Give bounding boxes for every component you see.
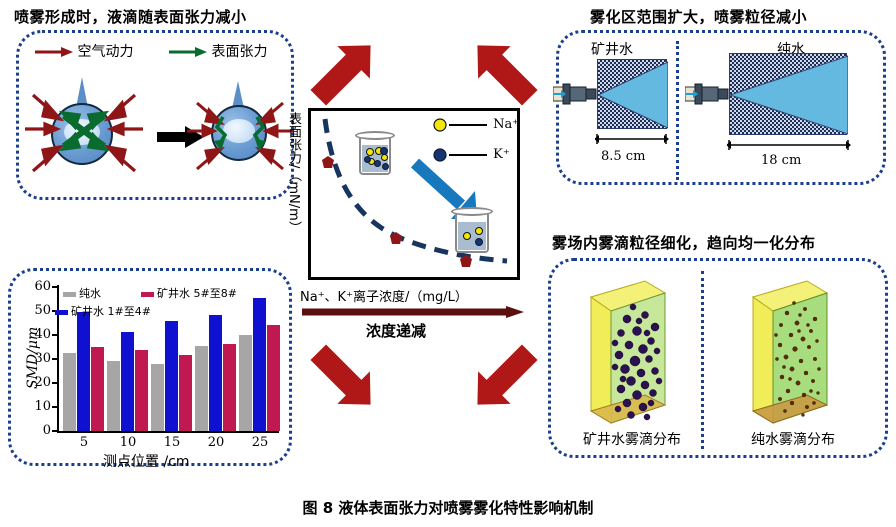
tick-mark [52,358,58,360]
chart-x-axis-label: 测点位置 /cm [103,451,190,471]
distribution-label-pure-water: 纯水雾滴分布 [751,429,835,449]
legend-label-air-force: 空气动力 [77,44,133,60]
ion-k [380,147,388,155]
connector-arrow-upper-right [462,36,548,110]
bar-mine58-25 [267,325,280,431]
droplet-force-arrows-high [19,75,149,185]
chart-legend-pure-water: 纯水 [63,285,101,301]
ion-k [475,238,483,246]
panel-tension-plot: Na⁺ K⁺ [308,108,520,280]
tick-mark [52,382,58,384]
dimension-arrow-mine-water [595,133,669,145]
connector-arrow-lower-right [462,340,548,414]
bar-mine14-5 [77,312,90,431]
bar-pure-10 [107,361,120,431]
bar-mine14-20 [209,315,222,431]
spray-cone-mine-water [598,60,668,130]
panel-distribution: 矿井水雾滴分布 纯水雾滴分布 [548,258,888,458]
ion-na [366,148,374,156]
legend-label-na: Na⁺ [493,117,519,132]
curve-marker-1 [321,155,335,169]
droplet-force-arrows-low [181,81,299,183]
curve-marker-2 [389,231,403,245]
chart-x-axis [57,431,279,433]
legend-label-pure-water: 纯水 [79,287,101,300]
x-tick-20: 20 [201,435,231,450]
tick-mark [52,430,58,432]
bar-pure-20 [195,346,208,431]
spray-cone-pure-water [730,54,848,136]
green-arrow-icon [167,46,207,58]
beaker-rim-2 [451,207,493,216]
cube-mine-water [585,275,695,425]
y-tick-50: 50 [29,303,51,318]
legend-label-mine-5-8: 矿井水 5#至8# [157,287,237,300]
legend-label-mine-1-4: 矿井水 1#至4# [71,305,151,318]
legend-swatch-mine-5-8 [141,292,154,297]
panel-distribution-title: 雾场内雾滴粒径细化，趋向均一化分布 [552,232,816,253]
nozzle-panel-divider [676,41,679,180]
dimension-label-pure-water: 18 cm [761,153,801,168]
panel-droplet-title: 喷雾形成时，液滴随表面张力减小 [14,6,247,27]
legend-item-air-force: 空气动力 [33,41,133,61]
tension-legend-k: K⁺ [433,147,510,162]
nozzle-icon-pure-water [685,81,733,107]
ion-k [382,163,389,170]
ion-k [364,156,371,163]
cube-pure-water [747,275,857,425]
legend-item-surface-tension: 表面张力 [167,41,267,61]
legend-marker-k [433,148,489,162]
bar-mine58-15 [179,355,192,431]
panel-droplet: 空气动力 表面张力 [16,30,294,200]
ion-na [463,232,471,240]
dimension-label-mine-water: 8.5 cm [601,149,645,164]
bar-mine58-20 [223,344,236,431]
panel-smd-chart: 60 50 40 30 20 10 0 5 10 15 20 25 [8,268,292,466]
distribution-label-mine-water: 矿井水雾滴分布 [583,429,681,449]
cube-pure-water-svg [747,275,857,425]
chart-legend-mine-5-8: 矿井水 5#至8# [141,285,237,301]
y-tick-60: 60 [29,279,51,294]
ion-na [381,154,388,161]
chart-y-axis-label: SMD/μm [25,327,41,389]
y-tick-10: 10 [29,399,51,414]
nozzle-label-mine-water: 矿井水 [591,39,633,59]
legend-marker-na [433,118,489,132]
ion-na [475,227,483,235]
bar-mine58-10 [135,350,148,431]
x-tick-10: 10 [113,435,143,450]
legend-swatch-mine-1-4 [55,310,68,315]
legend-label-k: K⁺ [493,147,510,162]
beaker-high-concentration [355,129,395,179]
tick-mark [52,334,58,336]
concentration-trend-label: 浓度递减 [366,320,426,341]
x-tick-25: 25 [245,435,275,450]
spray-region-mine-water [597,59,667,129]
connector-arrow-lower-left [300,340,386,414]
figure-caption: 图 8 液体表面张力对喷雾雾化特性影响机制 [0,497,896,518]
droplet-low-tension [211,85,267,171]
tick-mark [52,406,58,408]
panel-nozzle: 矿井水 8.5 cm 纯水 [556,30,886,185]
distribution-divider [701,271,704,449]
bar-pure-25 [239,335,252,431]
red-arrow-icon [33,46,73,58]
bar-pure-15 [151,364,164,431]
beaker-low-concentration [451,205,493,257]
connector-arrow-upper-left [300,36,386,110]
bar-mine14-15 [165,321,178,431]
bar-mine14-10 [121,332,134,431]
tension-x-axis-label: Na⁺、K⁺离子浓度/（mg/L） [300,286,468,305]
cube-mine-water-svg [585,275,695,425]
nozzle-icon-mine-water [553,81,601,107]
y-tick-0: 0 [29,423,51,438]
dimension-arrow-pure-water [727,139,851,151]
droplet-high-tension [51,81,113,173]
legend-label-surface-tension: 表面张力 [211,44,267,60]
legend-swatch-pure-water [63,292,76,297]
tick-mark [52,286,58,288]
chart-legend-mine-1-4: 矿井水 1#至4# [55,303,151,319]
beaker-rim-1 [355,131,395,140]
bar-mine14-25 [253,298,266,431]
ion-k [374,160,381,167]
concentration-trend-arrow [302,306,524,318]
spray-region-pure-water [729,53,847,135]
panel-nozzle-title: 雾化区范围扩大，喷雾粒径减小 [590,6,807,27]
tension-y-axis-label: 表面张力/（mN/m） [284,112,303,278]
bar-pure-5 [63,353,76,431]
x-tick-5: 5 [69,435,99,450]
x-tick-15: 15 [157,435,187,450]
bar-mine58-5 [91,347,104,431]
tension-legend-na: Na⁺ [433,117,519,132]
